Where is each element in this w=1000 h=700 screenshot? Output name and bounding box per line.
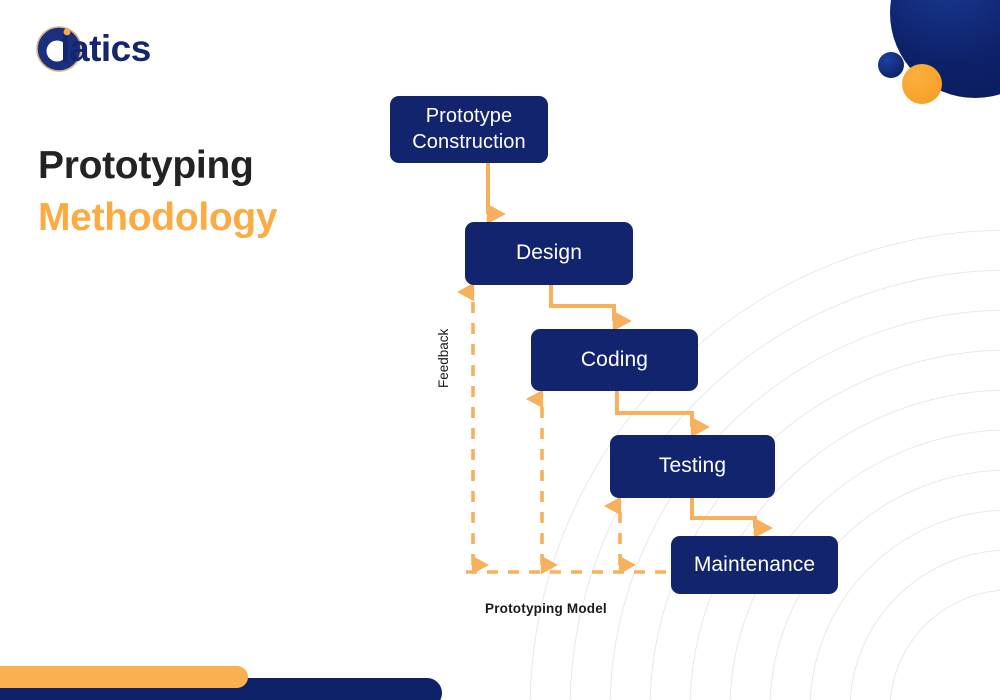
diagram-node-prototype-construction[interactable]: PrototypeConstruction — [390, 96, 548, 163]
diagram-node-design[interactable]: Design — [465, 222, 633, 285]
diagram-node-label: PrototypeConstruction — [412, 104, 525, 155]
diagram-node-label: Maintenance — [694, 552, 815, 579]
diagram-node-label: Coding — [581, 347, 648, 374]
diagram-node-coding[interactable]: Coding — [531, 329, 698, 391]
slide-canvas: atics Prototyping Methodology — [0, 0, 1000, 700]
diagram-caption: Prototyping Model — [485, 601, 607, 616]
footer-bar-orange — [0, 666, 248, 688]
edge-design-to-coding — [551, 285, 614, 321]
diagram-node-label: Testing — [659, 453, 726, 480]
diagram-node-label: Design — [516, 240, 582, 267]
edge-coding-to-testing — [617, 391, 692, 427]
diagram-node-maintenance[interactable]: Maintenance — [671, 536, 838, 594]
diagram-node-testing[interactable]: Testing — [610, 435, 775, 498]
edge-testing-to-maintenance — [692, 498, 755, 528]
feedback-axis-label: Feedback — [436, 298, 451, 388]
